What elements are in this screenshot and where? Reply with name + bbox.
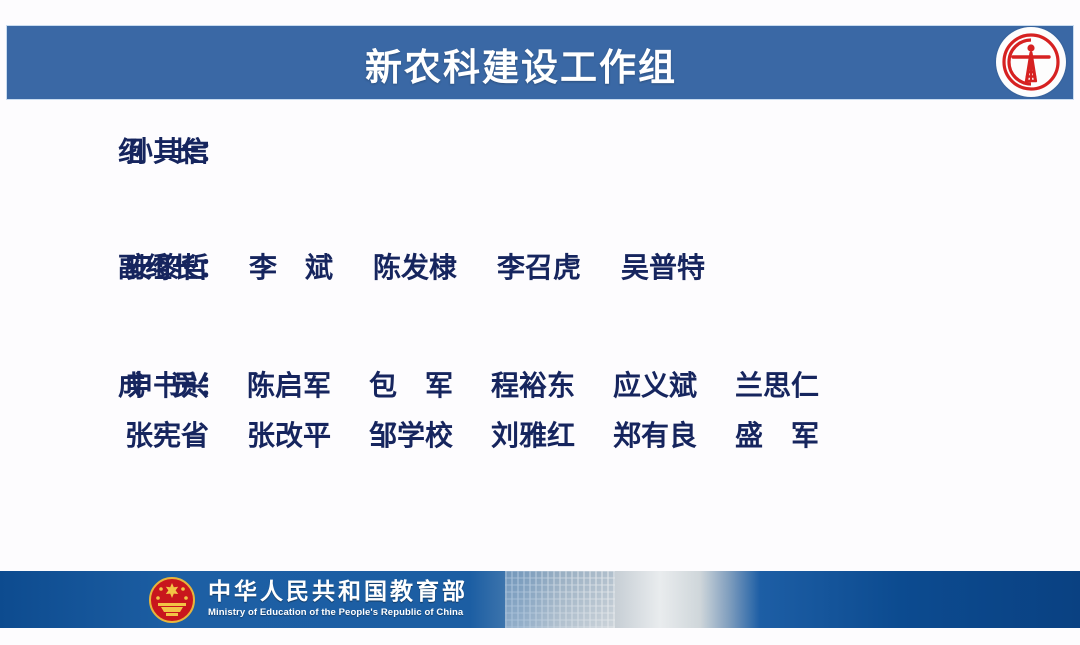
footer-ministry-cn: 中华人民共和国教育部	[208, 578, 538, 604]
member-name: 陈发棣	[373, 246, 497, 286]
member-name: 陈启军	[247, 364, 369, 404]
page-title: 新农科建设工作组	[7, 26, 1075, 101]
member-name: 申书兴	[125, 364, 247, 404]
roster-row-members-2: 张宪省 张改平 邹学校 刘雅红 郑有良 盛 军	[0, 414, 1080, 454]
member-name: 邹学校	[369, 414, 491, 454]
row-label-members: 成 员：	[0, 364, 125, 403]
member-name: 安黎哲	[125, 246, 249, 286]
footer-ministry-text: 中华人民共和国教育部 Ministry of Education of the …	[208, 578, 538, 620]
footer-ministry-en: Ministry of Education of the People's Re…	[208, 606, 538, 620]
roster-content: 组 长： 孙其信 副组长： 安黎哲 李 斌 陈发棣 李召虎 吴普特 成 员： 申…	[0, 130, 1080, 454]
roster-row-deputy: 副组长： 安黎哲 李 斌 陈发棣 李召虎 吴普特	[0, 246, 1080, 286]
member-name: 吴普特	[621, 246, 745, 286]
member-name: 李 斌	[249, 246, 373, 286]
member-name: 张宪省	[125, 414, 247, 454]
tower-emblem-icon	[996, 27, 1066, 97]
member-name: 包 军	[369, 364, 491, 404]
name-list-members-2: 张宪省 张改平 邹学校 刘雅红 郑有良 盛 军	[125, 414, 857, 454]
member-name: 郑有良	[613, 414, 735, 454]
name-list-leader: 孙其信	[125, 130, 275, 170]
name-list-deputy: 安黎哲 李 斌 陈发棣 李召虎 吴普特	[125, 246, 745, 286]
member-name: 李召虎	[497, 246, 621, 286]
slide-canvas: 新农科建设工作组 组 长： 孙其信 副组长： 安黎哲 李 斌 陈发棣	[0, 0, 1080, 645]
member-name: 孙其信	[125, 130, 275, 170]
row-label-leader: 组 长：	[0, 130, 125, 169]
member-name: 兰思仁	[735, 364, 857, 404]
member-name: 应义斌	[613, 364, 735, 404]
slide-header-bar: 新农科建设工作组	[6, 25, 1074, 100]
national-emblem-icon	[148, 576, 196, 624]
member-name: 刘雅红	[491, 414, 613, 454]
member-name: 张改平	[247, 414, 369, 454]
member-name: 程裕东	[491, 364, 613, 404]
roster-row-members-1: 成 员： 申书兴 陈启军 包 军 程裕东 应义斌 兰思仁	[0, 364, 1080, 404]
slide-footer-band: 中华人民共和国教育部 Ministry of Education of the …	[0, 571, 1080, 628]
name-list-members-1: 申书兴 陈启军 包 军 程裕东 应义斌 兰思仁	[125, 364, 857, 404]
member-name: 盛 军	[735, 414, 857, 454]
roster-row-leader: 组 长： 孙其信	[0, 130, 1080, 170]
row-label-deputy: 副组长：	[0, 246, 125, 285]
